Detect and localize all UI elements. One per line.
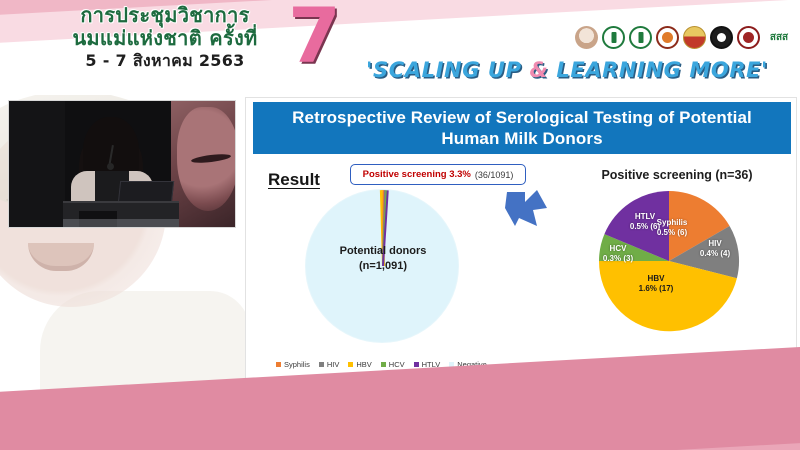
pie-label-hbv-value: 1.6% (17) <box>630 284 682 294</box>
speaker-video-panel[interactable] <box>8 100 236 228</box>
pie-label-hiv-value: 0.4% (4) <box>693 249 737 259</box>
pie-label-hiv-name: HIV <box>693 239 737 249</box>
presentation-screen: การประชุมวิชาการ นมแม่แห่งชาติ ครั้งที่ … <box>0 0 800 450</box>
legend-item-syphilis[interactable]: Syphilis <box>276 360 310 369</box>
royal-college-logo-icon <box>656 26 679 49</box>
buddha-emblem-logo-icon <box>575 26 598 49</box>
legend-label-syphilis: Syphilis <box>284 360 310 369</box>
conference-banner: การประชุมวิชาการ นมแม่แห่งชาติ ครั้งที่ … <box>0 0 800 95</box>
legend-swatch-hcv <box>381 362 386 367</box>
pie-label-hcv-name: HCV <box>597 244 639 254</box>
tagline-ampersand: & <box>530 58 549 82</box>
slide-title: Retrospective Review of Serological Test… <box>253 102 791 154</box>
microphone-head-icon <box>107 163 114 170</box>
pie-label-htlv-value: 0.5% (6) <box>622 222 668 232</box>
health-department-logo-icon <box>629 26 652 49</box>
legend-label-hiv: HIV <box>327 360 340 369</box>
thai-title-line2: นมแม่แห่งชาติ ครั้งที่ <box>30 27 300 50</box>
pie-label-hbv-name: HBV <box>630 274 682 284</box>
tagline-part2: LEARNING MORE' <box>548 58 768 82</box>
positive-screening-heading: Positive screening (n=36) <box>564 168 790 182</box>
conference-tagline: 'SCALING UP & LEARNING MORE' <box>366 58 796 82</box>
thai-title-line1: การประชุมวิชาการ <box>30 4 300 27</box>
legend-swatch-syphilis <box>276 362 281 367</box>
laptop-on-podium <box>118 181 174 203</box>
legend-item-hiv[interactable]: HIV <box>319 360 340 369</box>
potential-donors-label: Potential donors (n=1,091) <box>320 244 446 274</box>
pie-label-hbv: HBV 1.6% (17) <box>630 274 682 295</box>
thaihealth-sss-logo-icon: สสส <box>764 26 794 49</box>
legend-label-hcv: HCV <box>389 360 405 369</box>
legend-swatch-htlv <box>414 362 419 367</box>
edition-number: 7 <box>288 0 341 74</box>
pie-label-htlv-name: HTLV <box>622 212 668 222</box>
conference-date: 5 - 7 สิงหาคม 2563 <box>30 52 300 70</box>
legend-swatch-hbv <box>348 362 353 367</box>
legend-item-hcv[interactable]: HCV <box>381 360 405 369</box>
positive-screening-callout: Positive screening 3.3% (36/1091) <box>350 164 526 185</box>
red-crest-logo-icon <box>737 26 760 49</box>
down-right-arrow-icon <box>503 186 549 230</box>
tagline-part1: 'SCALING UP <box>366 58 530 82</box>
royal-crest-logo-icon <box>683 26 706 49</box>
legend-swatch-hiv <box>319 362 324 367</box>
legend-item-hbv[interactable]: HBV <box>348 360 371 369</box>
result-heading: Result <box>268 170 320 190</box>
video-background-left <box>9 101 65 227</box>
sponsor-logo-row: สสส <box>575 26 794 49</box>
pie-label-hcv: HCV 0.3% (3) <box>597 244 639 265</box>
pie-label-hiv: HIV 0.4% (4) <box>693 239 737 260</box>
legend-label-hbv: HBV <box>356 360 371 369</box>
pie-label-hcv-value: 0.3% (3) <box>597 254 639 264</box>
potential-donors-label-line1: Potential donors <box>320 244 446 259</box>
conference-thai-title: การประชุมวิชาการ นมแม่แห่งชาติ ครั้งที่ … <box>30 4 300 70</box>
podium-glass-base <box>63 219 179 228</box>
pie-label-htlv: HTLV 0.5% (6) <box>622 212 668 233</box>
potential-donors-label-line2: (n=1,091) <box>320 259 446 274</box>
garuda-emblem-logo-icon <box>710 26 733 49</box>
ministry-health-logo-icon <box>602 26 625 49</box>
callout-highlight: Positive screening 3.3% <box>363 169 471 180</box>
callout-detail: (36/1091) <box>475 170 514 180</box>
